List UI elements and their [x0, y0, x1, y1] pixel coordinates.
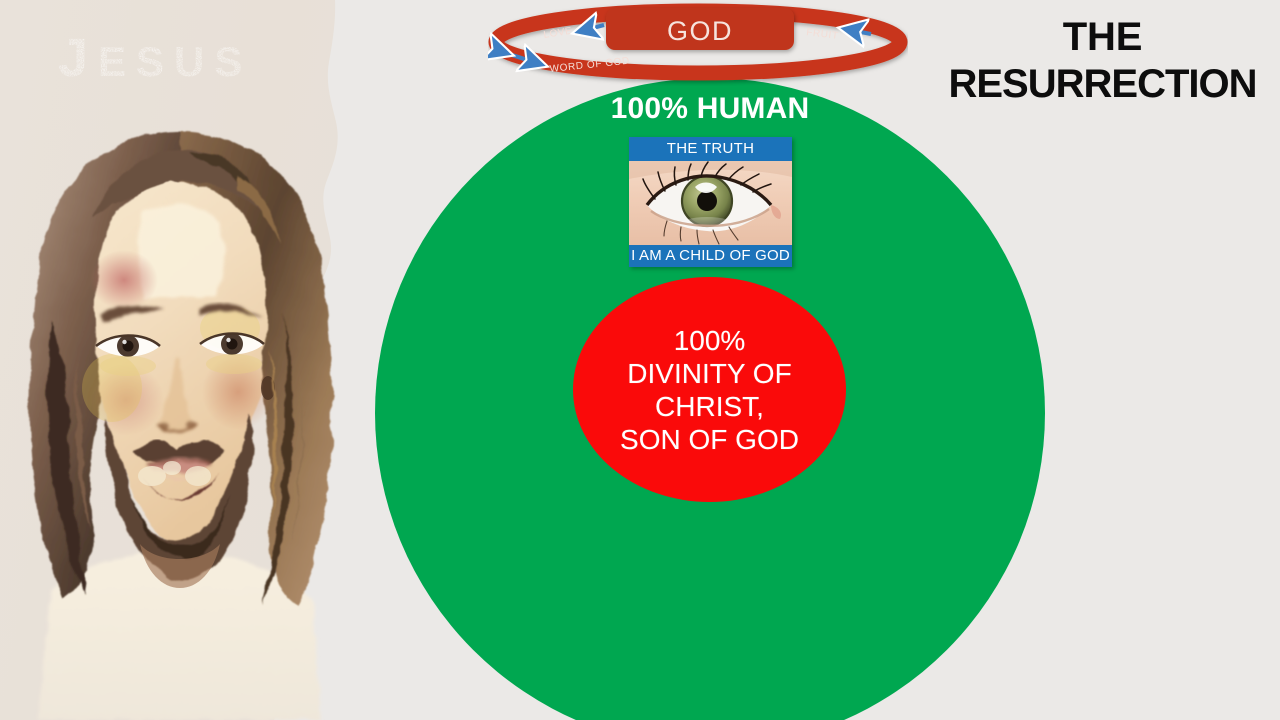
svg-text:ESUS: ESUS — [98, 38, 252, 85]
page-title: THE RESURRECTION — [930, 14, 1275, 108]
truth-card-top-label: THE TRUTH — [629, 137, 792, 161]
love-arrow-icon — [574, 25, 604, 33]
god-banner-label: GOD — [667, 16, 733, 46]
jesus-portrait — [0, 120, 372, 720]
divinity-ellipse-text: 100% DIVINITY OF CHRIST, SON OF GOD — [620, 324, 799, 456]
truth-card[interactable]: THE TRUTH — [629, 137, 792, 267]
page-title-line-1: THE — [930, 14, 1275, 61]
god-halo-group: GOD LOVE FRUIT WORD OF GOD — [488, 0, 908, 86]
divinity-line-4: SON OF GOD — [620, 423, 799, 456]
page-title-line-2: RESURRECTION — [930, 61, 1275, 108]
divinity-line-3: CHRIST, — [620, 390, 799, 423]
eye-image — [629, 161, 792, 245]
slide-canvas: J ESUS — [0, 0, 1280, 720]
svg-text:J: J — [58, 28, 95, 88]
divinity-ellipse: 100% DIVINITY OF CHRIST, SON OF GOD — [573, 277, 846, 502]
jesus-wordmark: J ESUS — [58, 24, 318, 94]
truth-card-bottom-label: I AM A CHILD OF GOD — [629, 245, 792, 267]
fruit-label: FRUIT — [806, 27, 840, 42]
divinity-line-1: 100% — [620, 324, 799, 357]
divinity-line-2: DIVINITY OF — [620, 357, 799, 390]
